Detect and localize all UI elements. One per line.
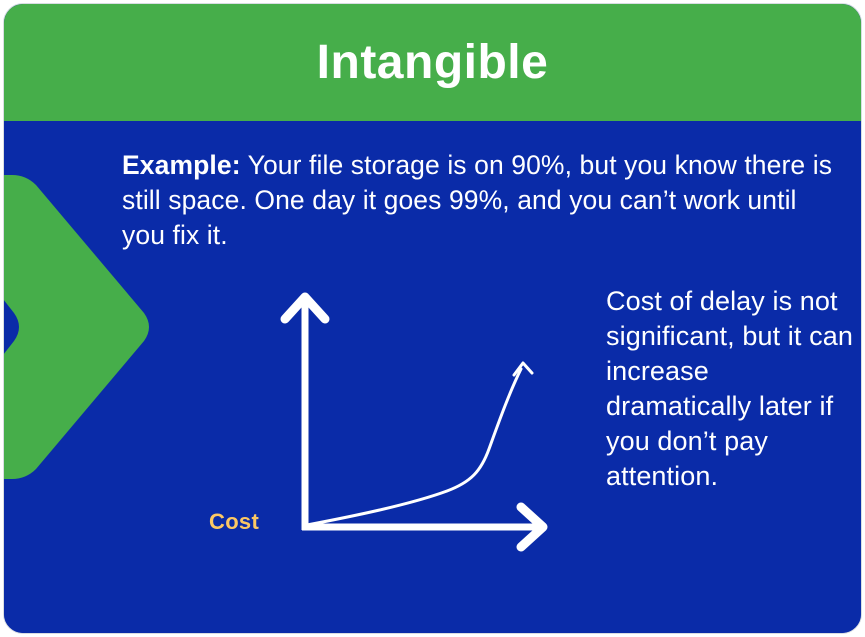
chart-svg	[189, 271, 589, 601]
slide-card: Intangible Example: Your file storage is…	[3, 3, 862, 634]
cost-delay-chart: Cost Delay	[189, 271, 589, 601]
y-axis-label: Cost	[209, 509, 259, 535]
card-body: Example: Your file storage is on 90%, bu…	[4, 121, 861, 633]
page-title: Intangible	[317, 39, 549, 87]
cost-curve	[307, 369, 521, 525]
card-header: Intangible	[4, 4, 861, 121]
curve-arrow-icon	[514, 363, 532, 375]
example-label: Example:	[122, 150, 241, 180]
example-paragraph: Example: Your file storage is on 90%, bu…	[122, 148, 834, 254]
side-note-paragraph: Cost of delay is not significant, but it…	[606, 284, 856, 495]
